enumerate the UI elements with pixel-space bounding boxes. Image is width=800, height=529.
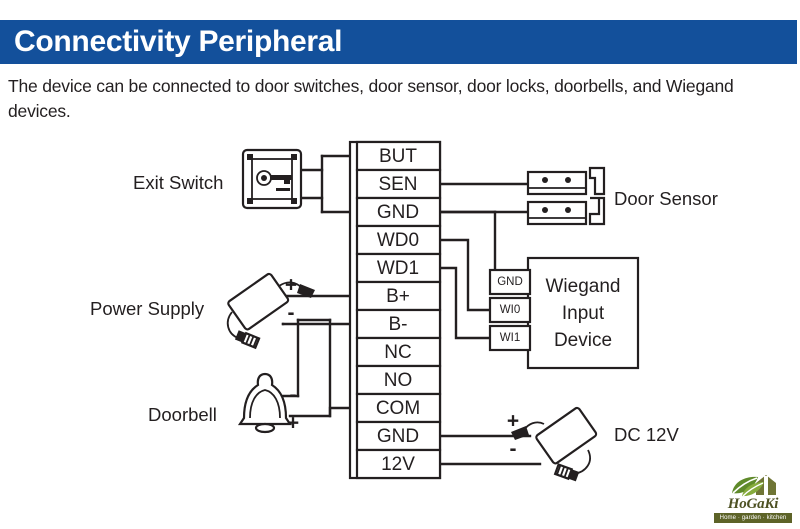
power-supply-group[interactable]: Power Supply [90,273,315,348]
logo-wordmark: HoGaKi [712,497,794,512]
dc12v-group[interactable]: + - DC 12V [507,407,680,482]
page-root: Connectivity Peripheral The device can b… [0,0,800,529]
bell-icon [240,374,290,432]
power-adapter-icon [511,407,597,482]
door-sensor-label: Door Sensor [614,188,718,209]
exit-switch-group[interactable]: Exit Switch [133,150,301,208]
doorbell-group[interactable]: Doorbell - + [148,374,299,435]
terminal-label-sen: SEN [378,174,417,195]
wiring-diagram: BUT SEN GND WD0 WD1 B+ B- NC NO COM GND … [0,128,800,529]
power-supply-plus-sign: + [285,274,297,297]
intro-paragraph: The device can be connected to door swit… [8,74,792,124]
logo-tagline: Home · garden · kitchen [714,513,792,523]
magnetic-contact-icon [528,168,604,224]
exit-switch-label: Exit Switch [133,172,223,193]
terminal-label-gnd-1: GND [377,202,419,223]
wiegand-device-group[interactable]: GND WI0 WI1 Wiegand Input Device [490,258,638,368]
terminal-label-wd1: WD1 [377,258,419,279]
power-supply-minus-sign: - [288,302,295,325]
terminal-label-12v: 12V [381,454,415,475]
terminal-label-com: COM [376,398,420,419]
terminal-label-wd0: WD0 [377,230,419,251]
door-sensor-group[interactable]: Door Sensor [528,168,718,224]
dc12v-minus-sign: - [510,438,517,461]
wiegand-device-line-3: Device [554,330,612,351]
terminal-label-bminus: B- [389,314,408,335]
terminal-label-gnd-2: GND [377,426,419,447]
terminal-label-nc: NC [384,342,411,363]
power-adapter-icon [227,273,315,348]
dc12v-label: DC 12V [614,424,679,445]
wiegand-pin-label-wi0: WI0 [500,304,520,316]
brand-logo: HoGaKi Home · garden · kitchen [712,473,794,523]
wiegand-device-line-2: Input [562,303,605,324]
wiegand-device-line-1: Wiegand [546,276,621,297]
doorbell-minus-sign: - [290,384,297,407]
wiegand-pin-label-wi1: WI1 [500,332,520,344]
terminal-label-no: NO [384,370,413,391]
terminal-label-but: BUT [379,146,417,167]
key-switch-icon [243,150,301,208]
terminal-block: BUT SEN GND WD0 WD1 B+ B- NC NO COM GND … [350,142,440,478]
power-supply-label: Power Supply [90,298,205,319]
doorbell-plus-sign: + [287,412,299,435]
doorbell-label: Doorbell [148,404,217,425]
terminal-label-bplus: B+ [386,286,410,307]
page-title: Connectivity Peripheral [14,22,342,62]
dc12v-plus-sign: + [507,410,519,433]
wiegand-pin-label-gnd: GND [497,276,523,288]
